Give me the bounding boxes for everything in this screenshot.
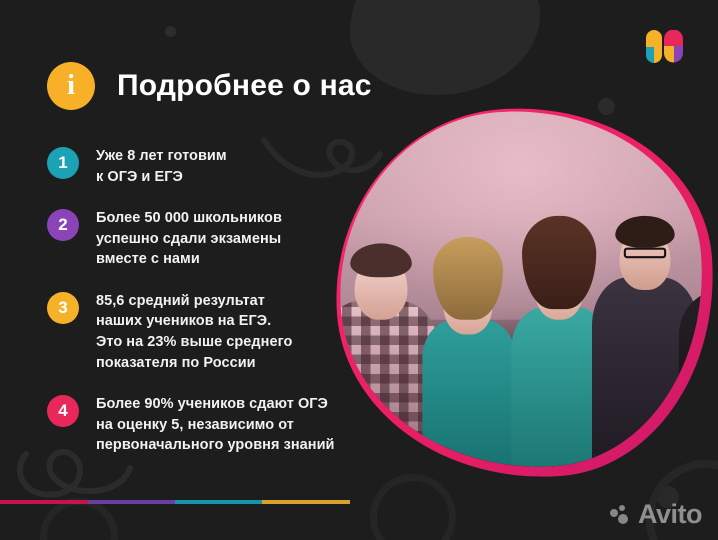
info-icon-glyph: i xyxy=(67,71,75,100)
list-item: 2 Более 50 000 школьников успешно сдали … xyxy=(47,208,362,270)
fact-text-1: Уже 8 лет готовим к ОГЭ и ЕГЭ xyxy=(96,146,227,187)
page-title: Подробнее о нас xyxy=(117,69,372,103)
slide-canvas: i Подробнее о нас 1 Уже 8 лет готовим к … xyxy=(0,0,718,540)
fact-text-2: Более 50 000 школьников успешно сдали эк… xyxy=(96,208,282,270)
avito-wordmark: Avito xyxy=(638,501,702,528)
bar-segment-teal xyxy=(175,500,262,504)
photo-person-2 xyxy=(416,235,518,479)
fact-badge-1: 1 xyxy=(47,147,79,179)
slide-header: i Подробнее о нас xyxy=(47,62,372,110)
facts-list: 1 Уже 8 лет готовим к ОГЭ и ЕГЭ 2 Более … xyxy=(47,146,362,477)
accent-color-bar xyxy=(0,500,350,504)
fact-badge-2: 2 xyxy=(47,209,79,241)
fact-text-3: 85,6 средний результат наших учеников на… xyxy=(96,291,292,373)
bar-segment-crimson xyxy=(0,500,88,504)
avito-watermark: Avito xyxy=(610,501,702,528)
photo-blob-clip xyxy=(328,99,715,480)
fact-badge-4: 4 xyxy=(47,395,79,427)
background-dot-small xyxy=(165,26,176,37)
bar-segment-purple xyxy=(88,500,175,504)
team-group-photo xyxy=(336,108,714,478)
bar-segment-gold xyxy=(262,500,350,504)
info-icon: i xyxy=(47,62,95,110)
list-item: 3 85,6 средний результат наших учеников … xyxy=(47,291,362,373)
background-ring-bottom-left xyxy=(40,498,118,540)
list-item: 1 Уже 8 лет готовим к ОГЭ и ЕГЭ xyxy=(47,146,362,187)
fact-text-4: Более 90% учеников сдают ОГЭ на оценку 5… xyxy=(96,394,335,456)
avito-dots-icon xyxy=(610,505,632,524)
brand-logo xyxy=(646,30,686,63)
list-item: 4 Более 90% учеников сдают ОГЭ на оценку… xyxy=(47,394,362,456)
photo-content xyxy=(329,100,714,478)
fact-badge-3: 3 xyxy=(47,292,79,324)
background-ring-bottom xyxy=(370,474,456,540)
background-blob-top xyxy=(350,0,540,95)
